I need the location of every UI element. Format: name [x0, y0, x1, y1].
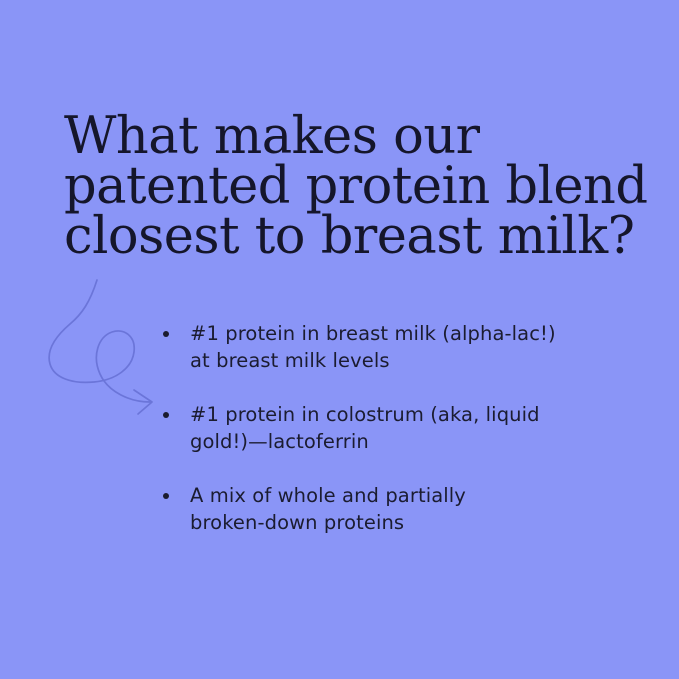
list-item-text: #1 protein in colostrum (aka, liquid gol… [190, 401, 578, 455]
page-title-line-2: patented protein blend [64, 162, 604, 212]
list-item: A mix of whole and partially broken-down… [158, 482, 578, 536]
list-item-line: #1 protein in breast milk (alpha-lac!) [190, 320, 578, 347]
list-item-text: #1 protein in breast milk (alpha-lac!) a… [190, 320, 578, 374]
list-item-text: A mix of whole and partially broken-down… [190, 482, 578, 536]
feature-bullet-list: #1 protein in breast milk (alpha-lac!) a… [158, 320, 578, 536]
list-item-line: broken-down proteins [190, 509, 578, 536]
page-title-line-1: What makes our [64, 112, 604, 162]
list-item-line: gold!)—lactoferrin [190, 428, 578, 455]
page-title: What makes our patented protein blend cl… [64, 112, 604, 262]
list-item-line: A mix of whole and partially [190, 482, 578, 509]
list-item-line: at breast milk levels [190, 347, 578, 374]
bullet-dot-icon [163, 493, 169, 499]
list-item: #1 protein in breast milk (alpha-lac!) a… [158, 320, 578, 374]
bullet-dot-icon [163, 331, 169, 337]
page-title-line-3: closest to breast milk? [64, 212, 604, 262]
list-item-line: #1 protein in colostrum (aka, liquid [190, 401, 578, 428]
info-card: What makes our patented protein blend cl… [0, 0, 679, 679]
bullet-dot-icon [163, 412, 169, 418]
list-item: #1 protein in colostrum (aka, liquid gol… [158, 401, 578, 455]
curly-loop-arrow-icon [38, 272, 168, 417]
